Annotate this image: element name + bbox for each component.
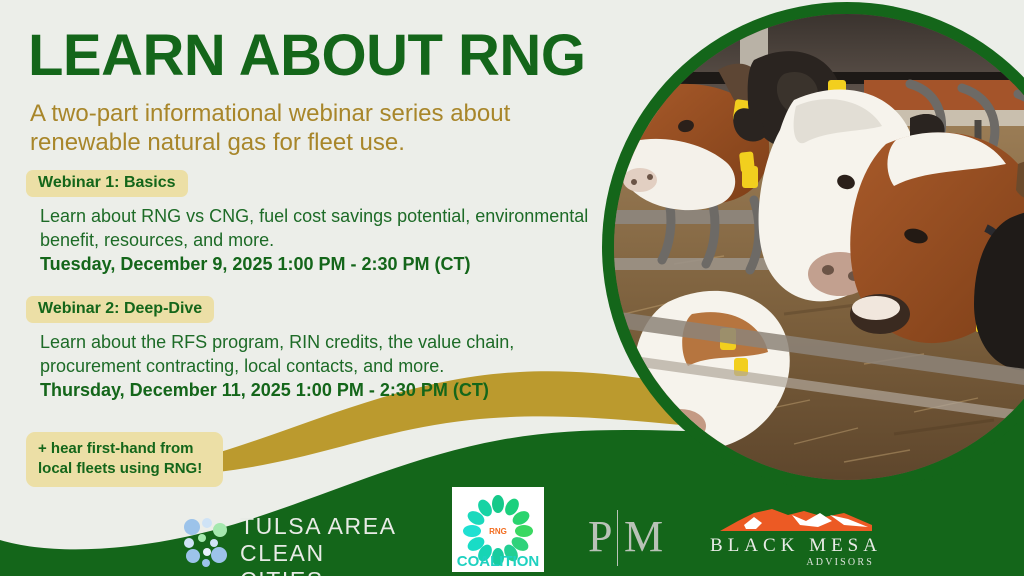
photo-circle-frame <box>602 2 1024 492</box>
logo-pm-divider <box>617 510 618 566</box>
webinar-1-description: Learn about RNG vs CNG, fuel cost saving… <box>40 206 588 250</box>
subtitle: A two-part informational webinar series … <box>30 99 610 157</box>
svg-text:RNG: RNG <box>489 527 507 536</box>
logo-pm-left: P <box>588 512 612 562</box>
poster-canvas: LEARN ABOUT RNG A two-part informational… <box>0 0 1024 576</box>
cow-photo <box>614 14 1024 480</box>
logo-pm-right: M <box>624 512 663 562</box>
logo-tulsa-line2: CLEAN CITIES <box>240 540 400 576</box>
bonus-note-badge: + hear first-hand from local fleets usin… <box>26 432 223 487</box>
logo-black-mesa-sub: ADVISORS <box>708 557 884 568</box>
logo-rng-coalition: RNG COALITION <box>452 487 544 572</box>
cluster-of-circles-icon <box>180 515 232 567</box>
webinar-2-badge: Webinar 2: Deep-Dive <box>26 296 214 323</box>
webinar-2-description: Learn about the RFS program, RIN credits… <box>40 332 514 376</box>
webinar-2-details: Learn about the RFS program, RIN credits… <box>40 330 620 402</box>
flower-ring-icon: RNG COALITION <box>452 487 544 572</box>
logo-tulsa-text: TULSA AREA CLEAN CITIES <box>240 513 400 576</box>
logo-tulsa-line1: TULSA AREA <box>240 513 400 540</box>
logo-pm: P M <box>588 512 668 564</box>
webinar-1-datetime: Tuesday, December 9, 2025 1:00 PM - 2:30… <box>40 252 620 276</box>
page-title: LEARN ABOUT RNG <box>28 26 585 86</box>
webinar-1-badge: Webinar 1: Basics <box>26 170 188 197</box>
logo-black-mesa-name: BLACK MESA <box>708 535 884 557</box>
webinar-1-details: Learn about RNG vs CNG, fuel cost saving… <box>40 204 620 276</box>
webinar-2-datetime: Thursday, December 11, 2025 1:00 PM - 2:… <box>40 378 620 402</box>
logo-tulsa-area-clean-cities: TULSA AREA CLEAN CITIES <box>180 512 400 568</box>
logo-black-mesa-advisors: BLACK MESA ADVISORS <box>708 505 884 571</box>
svg-text:COALITION: COALITION <box>457 553 540 570</box>
mesa-mountain-icon <box>720 505 872 533</box>
